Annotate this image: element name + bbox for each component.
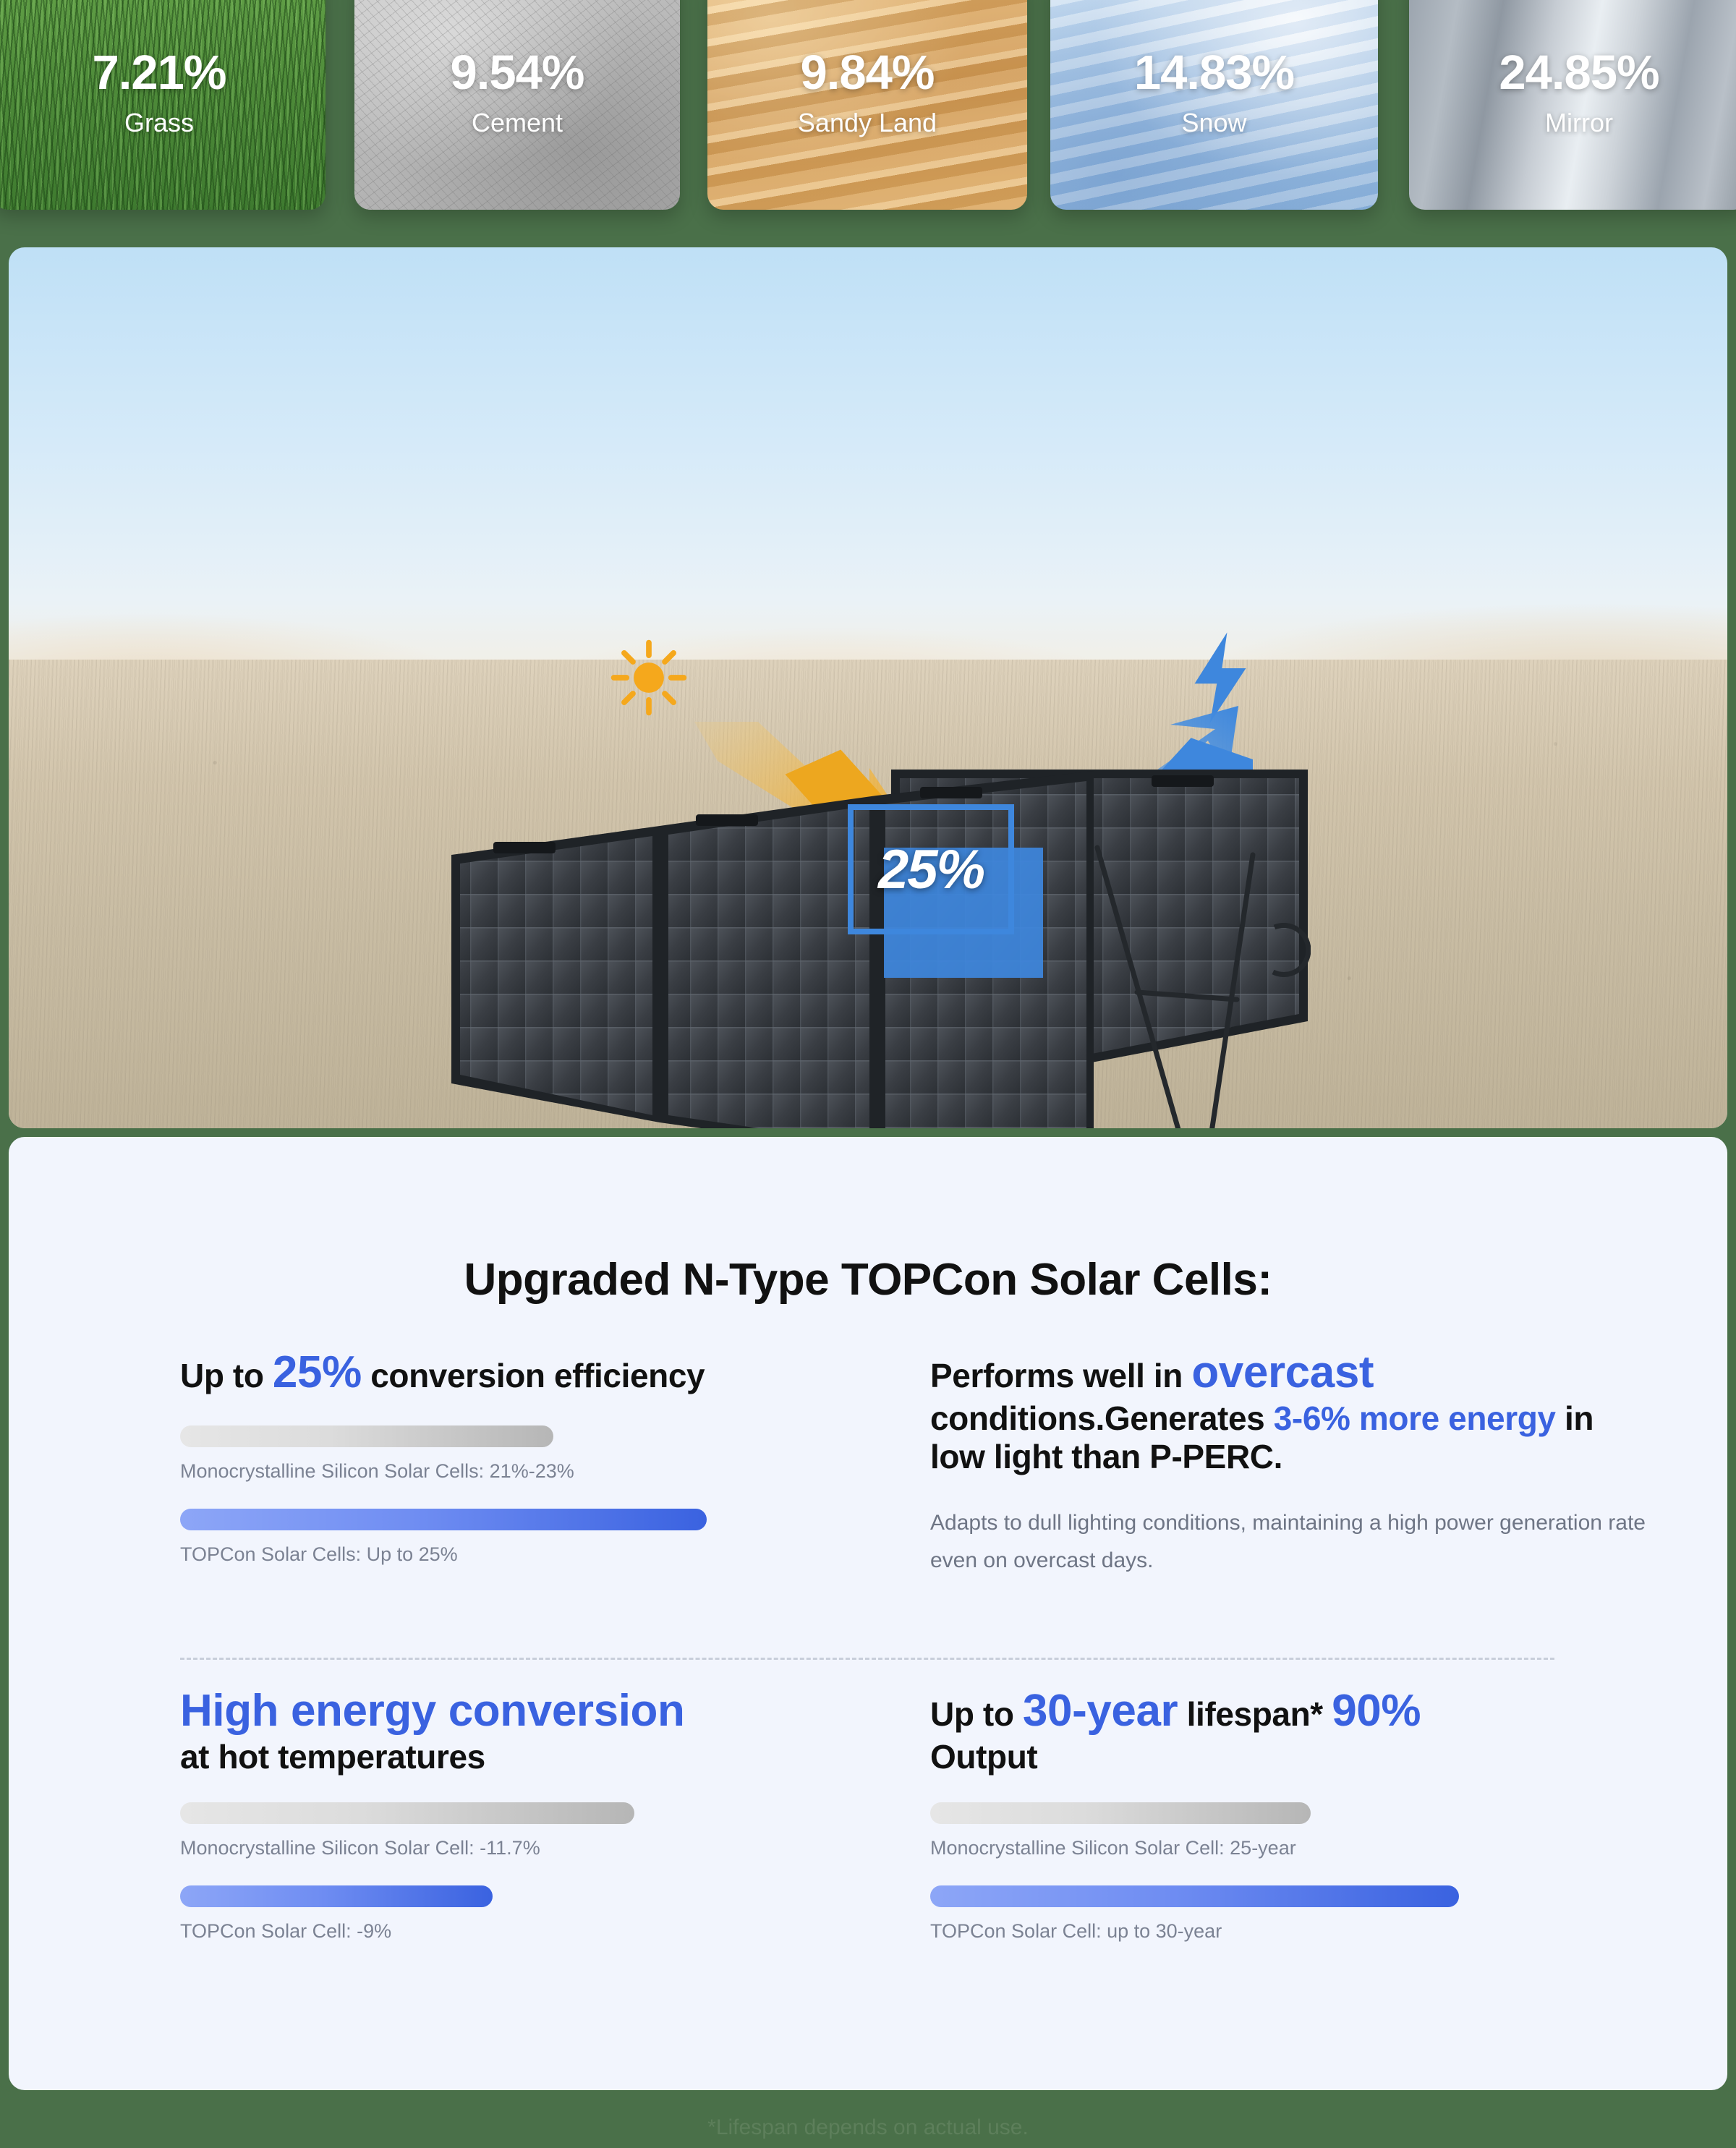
heading-part: conversion efficiency (362, 1357, 705, 1394)
bar-caption: Monocrystalline Silicon Solar Cells: 21%… (180, 1460, 903, 1483)
feature-subtext: Adapts to dull lighting conditions, main… (930, 1504, 1654, 1579)
albedo-comparison-strip: 7.21% Grass 9.54% Cement 9.84% Sandy Lan… (0, 0, 1736, 239)
progress-bar-topcon (180, 1885, 493, 1907)
progress-bar-topcon (180, 1509, 707, 1530)
badge-25-percent: 25% (848, 804, 1014, 934)
feature-heading: High energy conversionat hot temperature… (180, 1685, 903, 1776)
bar-group-topcon: TOPCon Solar Cell: up to 30-year (930, 1885, 1654, 1943)
albedo-card-sandy-land[interactable]: 9.84% Sandy Land (707, 0, 1027, 210)
bar-group-baseline: Monocrystalline Silicon Solar Cells: 21%… (180, 1425, 903, 1483)
albedo-percent: 14.83% (1134, 48, 1294, 97)
heading-highlight: 90% (1332, 1686, 1421, 1736)
albedo-card-grass[interactable]: 7.21% Grass (0, 0, 325, 210)
heading-part: Performs well in (930, 1357, 1191, 1394)
bar-group-topcon: TOPCon Solar Cell: -9% (180, 1885, 903, 1943)
page-title: Upgraded N-Type TOPCon Solar Cells: (9, 1254, 1727, 1305)
progress-bar-baseline (930, 1802, 1311, 1824)
footnote-lifespan-disclaimer: *Lifespan depends on actual use. (0, 2115, 1736, 2140)
feature-heading: Performs well in overcast conditions.Gen… (930, 1347, 1654, 1477)
albedo-label: Snow (1181, 110, 1246, 136)
feature-heading: Up to 25% conversion efficiency (180, 1347, 903, 1399)
albedo-percent: 9.54% (451, 48, 584, 97)
albedo-label: Cement (472, 110, 563, 136)
bar-group-baseline: Monocrystalline Silicon Solar Cell: -11.… (180, 1802, 903, 1859)
heading-part: at hot temperatures (180, 1738, 485, 1776)
feature-overcast-performance: Performs well in overcast conditions.Gen… (930, 1347, 1654, 1579)
heading-highlight: High energy conversion (180, 1686, 684, 1736)
albedo-label: Sandy Land (798, 110, 937, 136)
hero-section: 25% (0, 239, 1736, 1128)
bar-group-baseline: Monocrystalline Silicon Solar Cell: 25-y… (930, 1802, 1654, 1859)
heading-part: Output (930, 1738, 1037, 1776)
heading-part: lifespan* (1178, 1695, 1332, 1733)
albedo-label: Mirror (1545, 110, 1613, 136)
albedo-percent: 9.84% (801, 48, 935, 97)
heading-part: Up to (180, 1357, 273, 1394)
section-divider (180, 1658, 1554, 1660)
heading-highlight: 3-6% more energy (1274, 1399, 1556, 1437)
albedo-label: Grass (124, 110, 194, 136)
hero-image-desert-solar-panel: 25% (9, 247, 1727, 1128)
progress-bar-baseline (180, 1802, 634, 1824)
features-card: Upgraded N-Type TOPCon Solar Cells: Up t… (9, 1137, 1727, 2090)
desert-dunes (9, 537, 1727, 674)
albedo-card-mirror[interactable]: 24.85% Mirror (1409, 0, 1736, 210)
heading-highlight: 30-year (1023, 1686, 1178, 1736)
bar-caption: TOPCon Solar Cell: -9% (180, 1920, 903, 1943)
progress-bar-baseline (180, 1425, 553, 1447)
albedo-card-snow[interactable]: 14.83% Snow (1050, 0, 1378, 210)
feature-hot-temperature: High energy conversionat hot temperature… (180, 1685, 903, 1943)
feature-lifespan-output: Up to 30-year lifespan* 90%Output Monocr… (930, 1685, 1654, 1943)
heading-part: Up to (930, 1695, 1023, 1733)
heading-highlight: overcast (1191, 1347, 1374, 1397)
heading-highlight: 25% (273, 1347, 362, 1397)
bar-caption: TOPCon Solar Cell: up to 30-year (930, 1920, 1654, 1943)
bar-caption: Monocrystalline Silicon Solar Cell: 25-y… (930, 1837, 1654, 1859)
feature-conversion-efficiency: Up to 25% conversion efficiency Monocrys… (180, 1347, 903, 1566)
albedo-percent: 24.85% (1499, 48, 1659, 97)
sun-icon (609, 638, 689, 717)
features-section: Upgraded N-Type TOPCon Solar Cells: Up t… (0, 1128, 1736, 2090)
albedo-percent: 7.21% (93, 48, 226, 97)
bar-caption: Monocrystalline Silicon Solar Cell: -11.… (180, 1837, 903, 1859)
bar-group-topcon: TOPCon Solar Cells: Up to 25% (180, 1509, 903, 1566)
progress-bar-topcon (930, 1885, 1459, 1907)
feature-heading: Up to 30-year lifespan* 90%Output (930, 1685, 1654, 1776)
bar-caption: TOPCon Solar Cells: Up to 25% (180, 1543, 903, 1566)
albedo-card-cement[interactable]: 9.54% Cement (354, 0, 680, 210)
heading-part: conditions.Generates (930, 1399, 1274, 1437)
badge-25-value: 25% (878, 838, 984, 901)
